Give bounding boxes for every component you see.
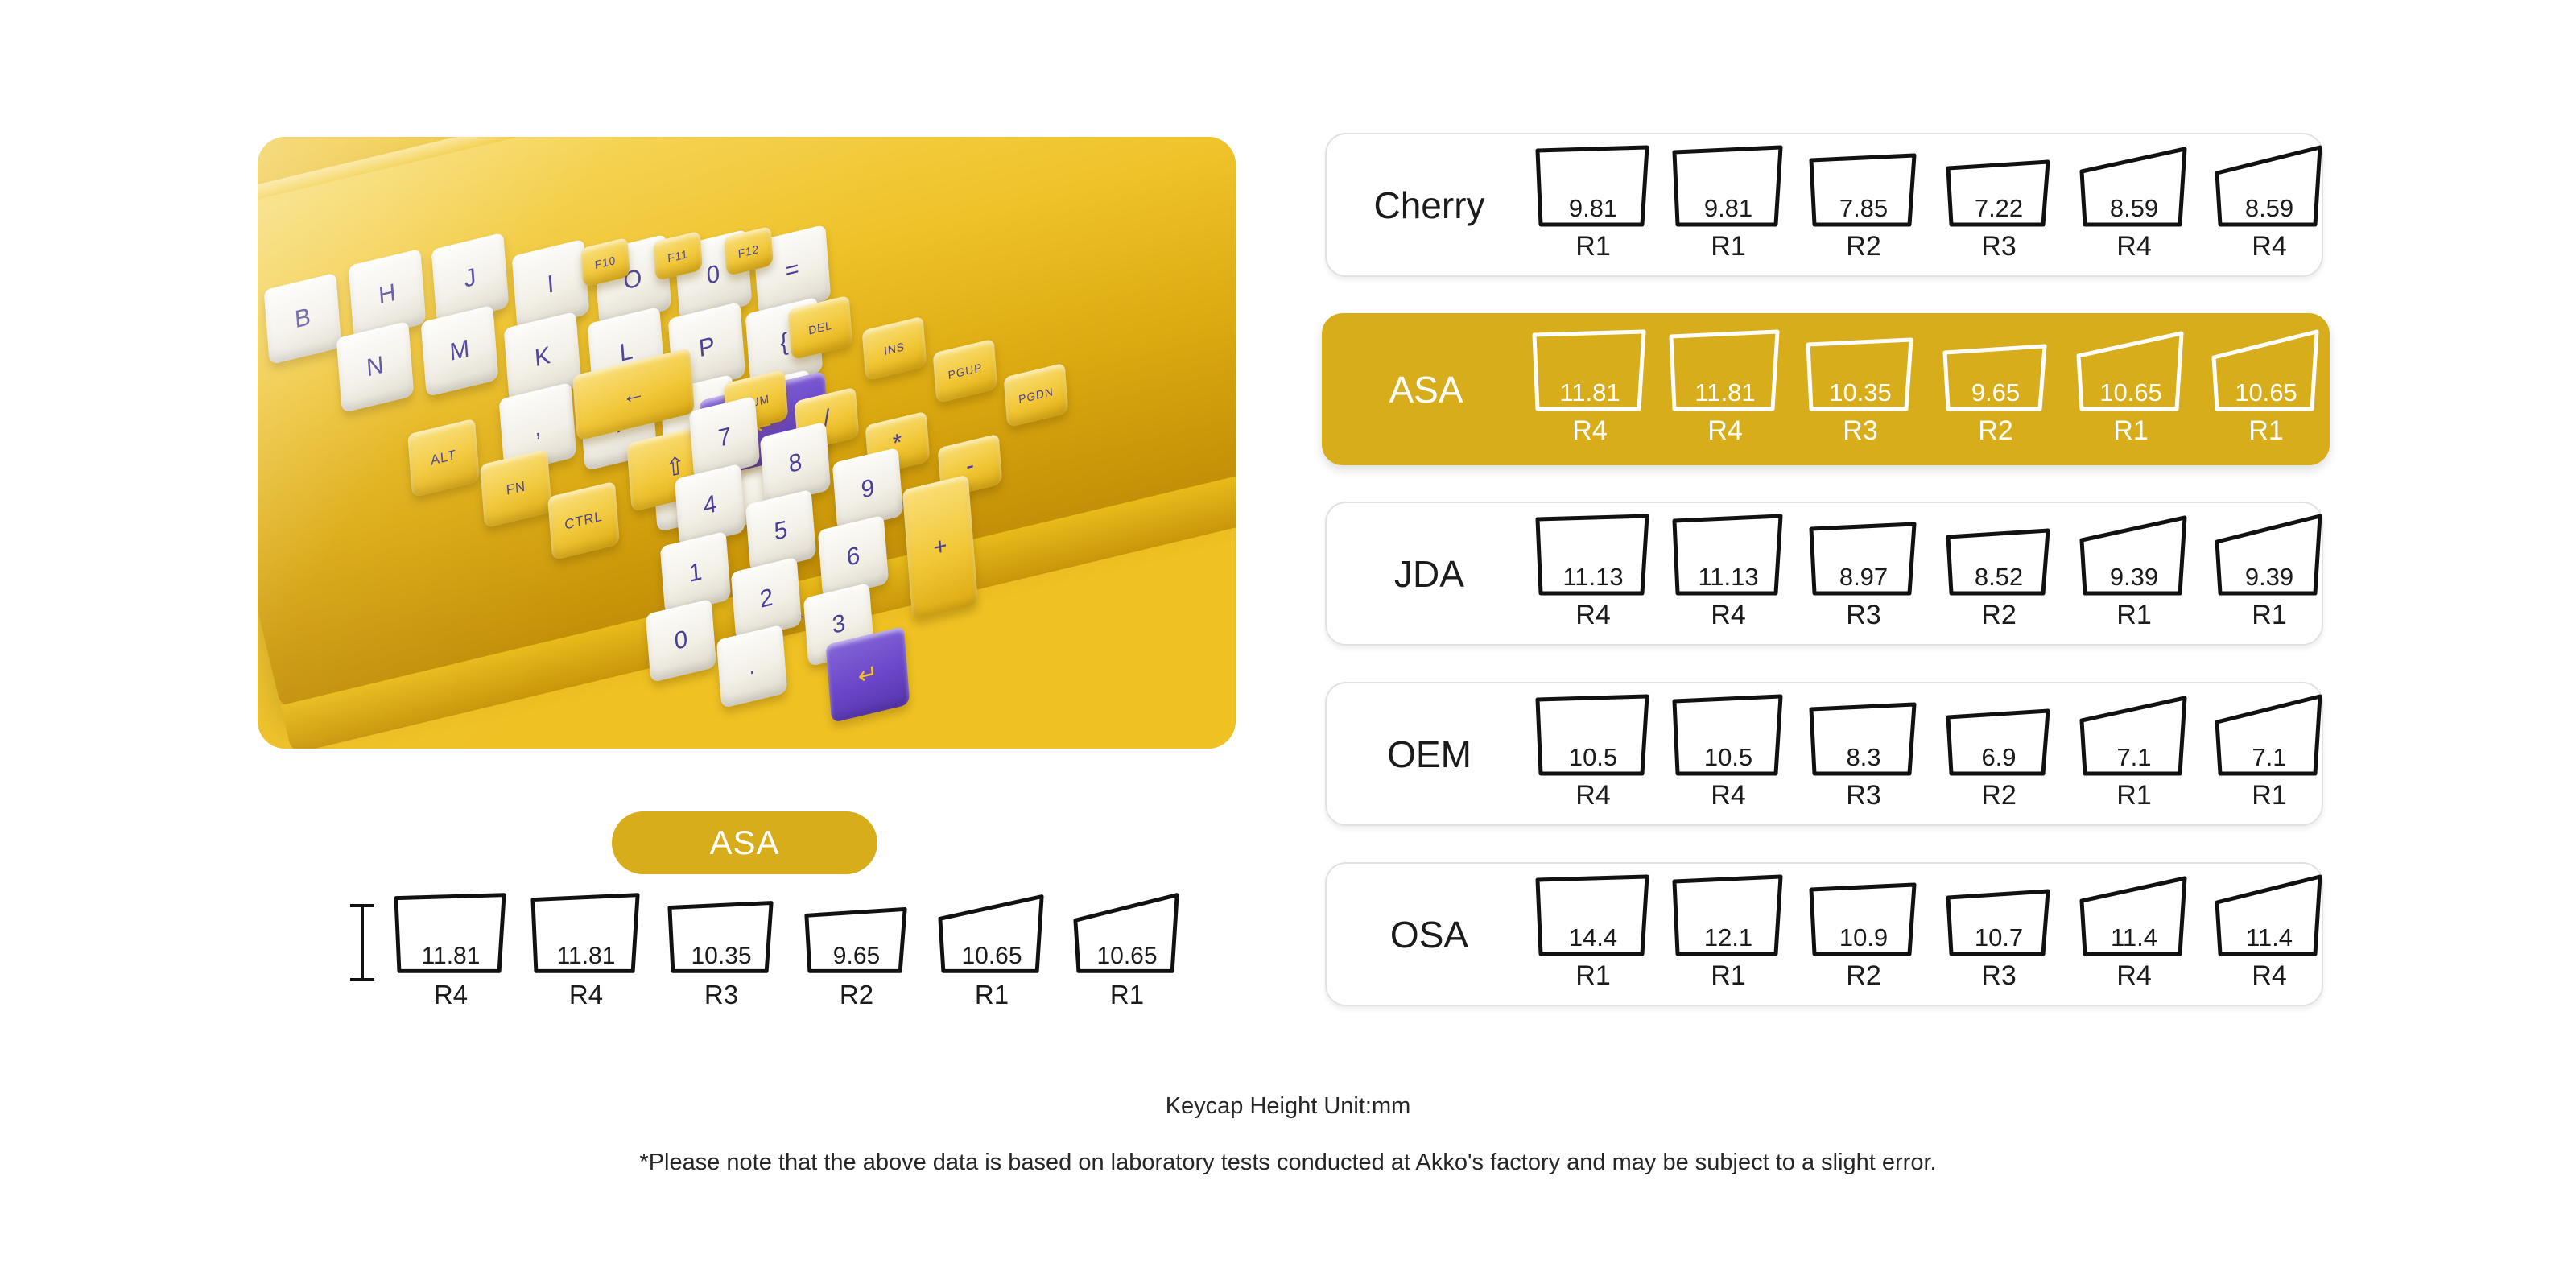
profile-card-list: Cherry9.81R19.81R17.85R27.22R38.59R48.59… <box>1325 133 2323 1042</box>
keycap-cell: 10.35R3 <box>661 890 782 1010</box>
keycap-height-value: 10.65 <box>935 943 1048 970</box>
keycap-height-value: 8.59 <box>2212 194 2326 223</box>
keycap-: + <box>902 474 978 620</box>
keycap-row-label: R2 <box>1981 600 2016 631</box>
keycap-height-value: 7.1 <box>2212 743 2326 772</box>
keycap-cell: 8.97R3 <box>1802 513 1925 631</box>
keycap-profile-icon: 6.9 <box>1942 693 2056 777</box>
keycap-cell: 9.39R1 <box>2073 513 2195 631</box>
keycap-height-value: 8.52 <box>1942 563 2056 592</box>
keycap-cell: 8.59R4 <box>2208 144 2330 262</box>
keycap-height-value: 9.65 <box>1938 378 2053 407</box>
keycap-height-value: 7.85 <box>1806 194 1921 223</box>
keycap-row-label: R4 <box>2252 231 2286 262</box>
keycap-profile-icon: 11.81 <box>1533 328 1647 412</box>
keycap-row-label: R1 <box>1110 980 1144 1010</box>
keycap-profile-icon: 9.39 <box>2212 513 2326 597</box>
keycap-row-label: R3 <box>704 980 738 1010</box>
selected-profile-label: ASA <box>709 824 779 862</box>
keycap-profile-icon: 10.35 <box>1803 328 1918 412</box>
keycap-height-value: 8.3 <box>1806 743 1921 772</box>
keycap-profile-icon: 12.1 <box>1671 873 1785 957</box>
keycap-profile-icon: 9.65 <box>800 890 913 976</box>
keycap-profile-icon: 14.4 <box>1536 873 1650 957</box>
keycap-row-label: R1 <box>2116 600 2151 631</box>
keycap-profile-icon: 10.65 <box>1071 890 1183 976</box>
keycap-pgdn: PGDN <box>1004 363 1069 428</box>
keycap-cell: 9.81R1 <box>1532 144 1654 262</box>
keycap-profile-icon: 11.13 <box>1671 513 1785 597</box>
keycap-0: 0 <box>646 599 716 683</box>
keycap-row-label: R4 <box>2116 231 2151 262</box>
unit-note: Keycap Height Unit:mm <box>0 1093 2576 1120</box>
keycap-profile-icon: 7.1 <box>2212 693 2326 777</box>
keycap-height-value: 10.65 <box>2074 378 2188 407</box>
keycap-pgup: PGUP <box>933 339 998 404</box>
keycap-cell: 9.39R1 <box>2208 513 2330 631</box>
keycap-profile-icon: 11.4 <box>2077 873 2191 957</box>
keycap-row-label: R3 <box>1846 780 1880 811</box>
keycap-row-label: R2 <box>1978 415 2013 447</box>
keycap-profile-icon: 10.7 <box>1942 873 2056 957</box>
profile-card-jda[interactable]: JDA11.13R411.13R48.97R38.52R29.39R19.39R… <box>1325 502 2323 646</box>
keycap-row: 11.13R411.13R48.97R38.52R29.39R19.39R1 <box>1532 513 2330 634</box>
keycap-cell: 8.52R2 <box>1938 513 2060 631</box>
keycap-height-value: 11.13 <box>1671 563 1785 592</box>
keycap-cell: 11.81R4 <box>1529 328 1651 447</box>
keycap-cell: 11.81R4 <box>526 890 646 1010</box>
keycap-profile-icon: 7.85 <box>1806 144 1921 228</box>
keycap-height-value: 10.65 <box>2209 378 2323 407</box>
keycap-row-label: R1 <box>2252 780 2286 811</box>
keycap-cell: 11.4R4 <box>2073 873 2195 992</box>
profile-name: Cherry <box>1327 184 1532 227</box>
profile-name: ASA <box>1323 368 1529 411</box>
selected-profile-pill[interactable]: ASA <box>612 811 877 874</box>
keycap-profile-icon: 11.81 <box>1668 328 1782 412</box>
keycap-profile-icon: 8.59 <box>2077 144 2191 228</box>
keycap-row: 10.5R410.5R48.3R36.9R27.1R17.1R1 <box>1532 693 2330 815</box>
keycap-height-value: 11.81 <box>1533 378 1647 407</box>
asa-detail-strip: 11.81R411.81R410.35R39.65R210.65R110.65R… <box>334 890 1163 1034</box>
keycap-row-label: R1 <box>2248 415 2283 447</box>
keycap-profile-icon: 11.81 <box>530 890 642 976</box>
keycap-height-value: 11.81 <box>394 943 507 970</box>
profile-name: JDA <box>1327 552 1532 596</box>
keycap-height-value: 7.22 <box>1942 194 2056 223</box>
keycap-row-label: R3 <box>1843 415 1877 447</box>
keycap-profile-icon: 9.39 <box>2077 513 2191 597</box>
keycap-row-label: R4 <box>434 980 468 1010</box>
keycap-cell: 10.5R4 <box>1667 693 1790 811</box>
keycap-cell: 14.4R1 <box>1532 873 1654 992</box>
keycap-profile-icon: 10.65 <box>2074 328 2188 412</box>
keycap-height-value: 11.13 <box>1536 563 1650 592</box>
keycap-cell: 8.3R3 <box>1802 693 1925 811</box>
keycap-row-label: R1 <box>2252 600 2286 631</box>
keycap-profile-icon: 11.81 <box>394 890 507 976</box>
keycap-profile-icon: 9.81 <box>1671 144 1785 228</box>
keycap-profile-icon: 8.97 <box>1806 513 1921 597</box>
keycap-height-value: 11.4 <box>2077 923 2191 952</box>
keycap-height-value: 9.81 <box>1536 194 1650 223</box>
keycap-row-label: R4 <box>1711 600 1745 631</box>
keycap-profile-icon: 11.4 <box>2212 873 2326 957</box>
keycap-height-value: 6.9 <box>1942 743 2056 772</box>
keycap-height-value: 9.39 <box>2212 563 2326 592</box>
keycap-row-label: R1 <box>1711 960 1745 992</box>
profile-name: OEM <box>1327 733 1532 776</box>
keycap-height-value: 10.35 <box>1803 378 1918 407</box>
keycap-ins: INS <box>862 316 927 382</box>
keycap-profile-icon: 9.65 <box>1938 328 2053 412</box>
keycap-profile-icon: 11.13 <box>1536 513 1650 597</box>
keycap-height-value: 9.81 <box>1671 194 1785 223</box>
keycap-cell: 10.7R3 <box>1938 873 2060 992</box>
keycap-cell: 9.65R2 <box>1934 328 2057 447</box>
keycap-height-value: 10.35 <box>665 943 778 970</box>
keycap-row-label: R1 <box>1575 960 1610 992</box>
keycap-row: 14.4R112.1R110.9R210.7R311.4R411.4R4 <box>1532 873 2330 995</box>
keycap-cell: 6.9R2 <box>1938 693 2060 811</box>
keycap-profile-icon: 10.9 <box>1806 873 1921 957</box>
keycap-height-value: 10.5 <box>1671 743 1785 772</box>
keycap-row-label: R3 <box>1981 960 2016 992</box>
keycap-row: 11.81R411.81R410.35R39.65R210.65R110.65R… <box>1529 328 2327 450</box>
keycap-height-value: 9.65 <box>800 943 913 970</box>
keycap-cell: 12.1R1 <box>1667 873 1790 992</box>
keycap-row-label: R4 <box>1572 415 1607 447</box>
keycap-profile-icon: 10.65 <box>935 890 1048 976</box>
keycap-height-value: 12.1 <box>1671 923 1785 952</box>
keycap-height-value: 11.81 <box>1668 378 1782 407</box>
keycap-cell: 10.9R2 <box>1802 873 1925 992</box>
keycap-profile-icon: 10.35 <box>665 890 778 976</box>
keycap-cell: 10.65R1 <box>1067 890 1187 1010</box>
keycap-cell: 11.4R4 <box>2208 873 2330 992</box>
keycap-profile-icon: 7.1 <box>2077 693 2191 777</box>
keycap-row-label: R4 <box>569 980 603 1010</box>
keycap-cell: 10.35R3 <box>1799 328 1922 447</box>
keycap-profile-icon: 7.22 <box>1942 144 2056 228</box>
keycap-profile-icon: 8.52 <box>1942 513 2056 597</box>
keycap-height-value: 10.7 <box>1942 923 2056 952</box>
infographic-root: Akko BHNJMIK,OL.0P:?={;\F10F11F12ALTFNCT… <box>0 0 2576 1288</box>
keycap-b: B <box>264 273 342 365</box>
keycap-cell: 7.1R1 <box>2073 693 2195 811</box>
keycap-height-value: 9.39 <box>2077 563 2191 592</box>
keycap-cell: 11.81R4 <box>390 890 511 1010</box>
keycap-row-label: R4 <box>1575 600 1610 631</box>
keycap-profile-icon: 8.59 <box>2212 144 2326 228</box>
keycap-cell: 11.13R4 <box>1532 513 1654 631</box>
keycap-height-value: 8.97 <box>1806 563 1921 592</box>
keycap-cell: 10.65R1 <box>2070 328 2192 447</box>
keycap-cell: 10.65R1 <box>931 890 1052 1010</box>
keycap-profile-icon: 8.3 <box>1806 693 1921 777</box>
keycap-row-label: R4 <box>2252 960 2286 992</box>
keycap-profile-icon: 10.65 <box>2209 328 2323 412</box>
keycap-height-value: 11.81 <box>530 943 642 970</box>
keycap-row: 9.81R19.81R17.85R27.22R38.59R48.59R4 <box>1532 144 2330 266</box>
keycap-row-label: R1 <box>1711 231 1745 262</box>
keycap-height-value: 11.4 <box>2212 923 2326 952</box>
keycap-cell: 7.22R3 <box>1938 144 2060 262</box>
keycap-row-label: R2 <box>840 980 873 1010</box>
keycap-row-label: R2 <box>1981 780 2016 811</box>
keycap-cell: 7.1R1 <box>2208 693 2330 811</box>
keycap-height-value: 8.59 <box>2077 194 2191 223</box>
keycap-profile-icon: 10.5 <box>1536 693 1650 777</box>
keycap-height-value: 7.1 <box>2077 743 2191 772</box>
keycap-row-label: R3 <box>1846 600 1880 631</box>
product-photo: Akko BHNJMIK,OL.0P:?={;\F10F11F12ALTFNCT… <box>258 137 1236 749</box>
disclaimer-note: *Please note that the above data is base… <box>0 1150 2576 1176</box>
profile-card-asa[interactable]: ASA11.81R411.81R410.35R39.65R210.65R110.… <box>1322 313 2330 465</box>
keycap-row-label: R1 <box>1575 231 1610 262</box>
keycap-row-label: R4 <box>1711 780 1745 811</box>
keycap-m: M <box>421 305 499 397</box>
keycap-ctrl: CTRL <box>547 481 620 561</box>
keycap-row-label: R1 <box>975 980 1009 1010</box>
profile-card-oem[interactable]: OEM10.5R410.5R48.3R36.9R27.1R17.1R1 <box>1325 682 2323 826</box>
keycap-height-value: 10.5 <box>1536 743 1650 772</box>
keycap-height-value: 10.9 <box>1806 923 1921 952</box>
asa-detail-keycaps: 11.81R411.81R410.35R39.65R210.65R110.65R… <box>390 890 1187 1010</box>
keycap-cell: 11.81R4 <box>1664 328 1786 447</box>
keycap-cell: 8.59R4 <box>2073 144 2195 262</box>
keycap-height-value: 14.4 <box>1536 923 1650 952</box>
keycap-grid: BHNJMIK,OL.0P:?={;\F10F11F12ALTFNCTRL⇧↵←… <box>258 137 1236 749</box>
keycap-cell: 10.5R4 <box>1532 693 1654 811</box>
profile-card-cherry[interactable]: Cherry9.81R19.81R17.85R27.22R38.59R48.59… <box>1325 133 2323 277</box>
keycap-row-label: R2 <box>1846 960 1880 992</box>
keycap-height-value: 10.65 <box>1071 943 1183 970</box>
keycap-row-label: R2 <box>1846 231 1880 262</box>
keycap-profile-icon: 9.81 <box>1536 144 1650 228</box>
keycap-fn: FN <box>480 449 552 529</box>
height-measure-icon <box>350 904 374 981</box>
keycap-row-label: R4 <box>2116 960 2151 992</box>
keycap-n: N <box>336 321 415 413</box>
keycap-: . <box>716 625 787 708</box>
keycap-row-label: R3 <box>1981 231 2016 262</box>
profile-card-osa[interactable]: OSA14.4R112.1R110.9R210.7R311.4R411.4R4 <box>1325 862 2323 1006</box>
keycap-cell: 9.65R2 <box>796 890 917 1010</box>
keycap-row-label: R1 <box>2113 415 2148 447</box>
keycap-cell: 7.85R2 <box>1802 144 1925 262</box>
keycap-row-label: R4 <box>1707 415 1742 447</box>
keycap-cell: 9.81R1 <box>1667 144 1790 262</box>
keycap-row-label: R1 <box>2116 780 2151 811</box>
keycap-alt: ALT <box>407 419 480 498</box>
keycap-cell: 10.65R1 <box>2205 328 2327 447</box>
keycap-row-label: R4 <box>1575 780 1610 811</box>
profile-name: OSA <box>1327 913 1532 956</box>
keycap-cell: 11.13R4 <box>1667 513 1790 631</box>
keycap-profile-icon: 10.5 <box>1671 693 1785 777</box>
